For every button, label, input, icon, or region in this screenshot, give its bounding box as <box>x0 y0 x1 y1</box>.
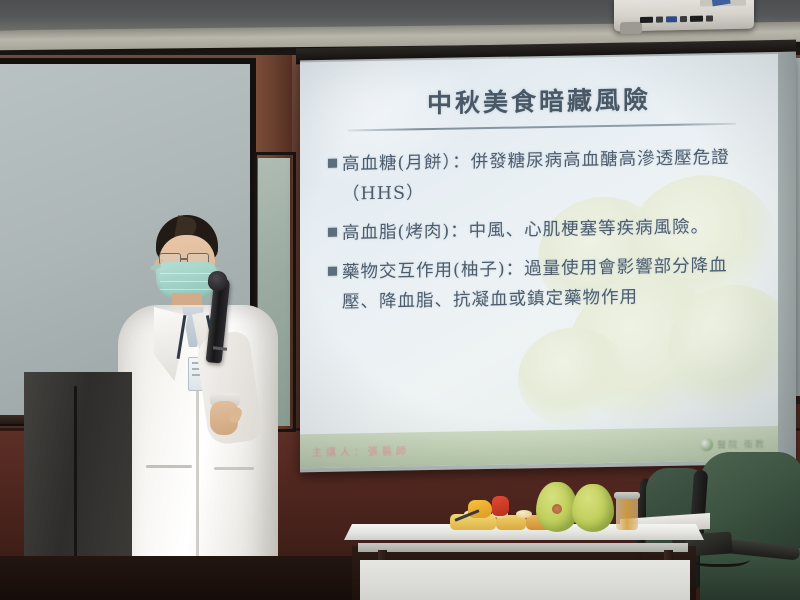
presenter <box>118 215 278 600</box>
pomelo-icon <box>572 484 614 532</box>
slide-title: 中秋美食暗藏風險 <box>300 78 778 122</box>
slide-footer-presenter: 主講人：張醫師 <box>312 442 410 459</box>
slide-footer-logo: 醫院 衛教 <box>700 437 766 451</box>
projector-lens-icon <box>620 22 642 34</box>
square-bullet-icon <box>328 228 337 237</box>
table-edge <box>358 543 688 552</box>
list-item: 高血糖(月餅）：併發糖尿病高血醣高滲透壓危證（HHS） <box>328 142 758 210</box>
foreground-shadow <box>0 556 352 600</box>
screen-blank-margin <box>778 52 796 464</box>
list-item: 藥物交互作用(柚子)：過量使用會影響部分降血壓、降血脂、抗凝血或鎮定藥物作用 <box>328 250 758 318</box>
bullet-text: 高血脂(烤肉)：中風、心肌梗塞等疾病風險。 <box>342 212 709 248</box>
lecture-hall-photo: 中秋美食暗藏風險 高血糖(月餅）：併發糖尿病高血醣高滲透壓危證（HHS） 高血脂… <box>0 0 800 600</box>
honey-jar-lid <box>614 492 640 499</box>
mooncake-top <box>516 510 532 518</box>
cable <box>690 548 750 567</box>
square-bullet-icon <box>328 159 337 168</box>
bullet-text: 高血糖(月餅）：併發糖尿病高血醣高滲透壓危證（HHS） <box>342 142 758 209</box>
slide-footer-logo-text: 醫院 衛教 <box>717 437 766 451</box>
hospital-logo-icon <box>700 438 713 451</box>
bell-pepper-icon <box>468 500 492 518</box>
slide-bullet-list: 高血糖(月餅）：併發糖尿病高血醣高滲透壓危證（HHS） 高血脂(烤肉)：中風、心… <box>328 142 758 327</box>
projector-ports <box>640 13 732 24</box>
honey-jar-icon <box>616 496 638 530</box>
food-items <box>440 480 640 532</box>
pomelo-stem <box>552 504 562 514</box>
coat-button-placket <box>196 365 199 570</box>
presentation-slide: 中秋美食暗藏風險 高血糖(月餅）：併發糖尿病高血醣高滲透壓危證（HHS） 高血脂… <box>300 54 778 468</box>
bell-pepper-icon <box>492 496 509 516</box>
projection-screen: 中秋美食暗藏風險 高血糖(月餅）：併發糖尿病高血醣高滲透壓危證（HHS） 高血脂… <box>300 52 796 473</box>
bullet-text: 藥物交互作用(柚子)：過量使用會影響部分降血壓、降血脂、抗凝血或鎮定藥物作用 <box>342 250 758 317</box>
lower-table <box>360 560 690 600</box>
coat-pocket-right <box>214 467 254 470</box>
square-bullet-icon <box>328 267 337 276</box>
coat-pocket-left <box>146 465 192 468</box>
list-item: 高血脂(烤肉)：中風、心肌梗塞等疾病風險。 <box>328 211 758 249</box>
